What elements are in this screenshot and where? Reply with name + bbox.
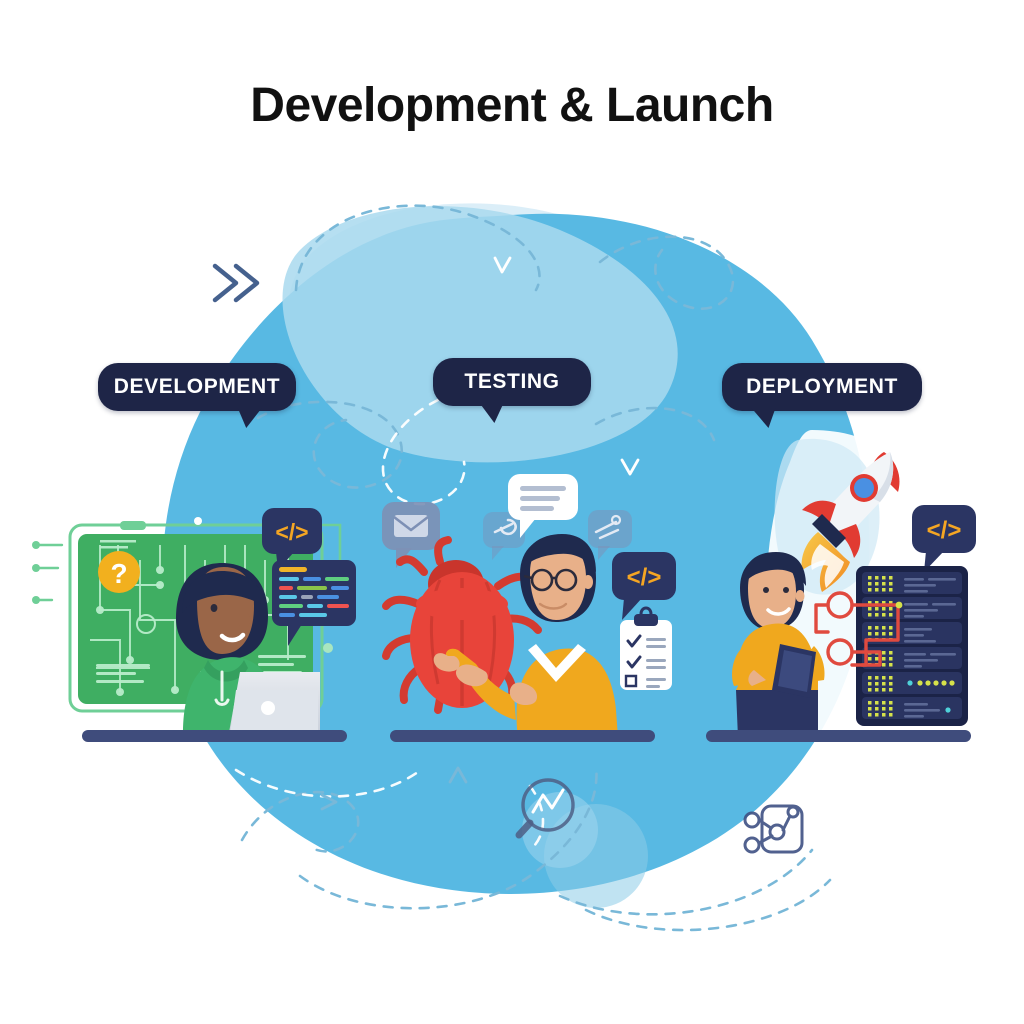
ground-bar — [390, 730, 655, 742]
tablet-icon — [772, 644, 816, 698]
bubble-tail-icon — [480, 403, 507, 423]
svg-text:</>: </> — [275, 519, 308, 545]
server-rack-icon — [856, 566, 968, 726]
svg-text:?: ? — [110, 558, 127, 589]
infographic-illustration: ? — [0, 0, 1024, 1024]
stage-label-deployment[interactable]: DEPLOYMENT — [722, 363, 922, 411]
stage-label-development[interactable]: DEVELOPMENT — [98, 363, 296, 411]
stage-label-testing-text: TESTING — [464, 370, 559, 394]
clipboard-checklist-icon — [620, 608, 672, 690]
stage-label-testing[interactable]: TESTING — [433, 358, 591, 406]
network-graph-icon — [745, 806, 802, 852]
bubble-tail-icon — [752, 408, 781, 428]
ground-bars — [82, 730, 971, 742]
svg-text:</>: </> — [927, 517, 962, 544]
bubble-tail-icon — [234, 408, 262, 428]
blob-dot-mid — [522, 792, 598, 868]
developer-at-laptop-scene: ? — [32, 508, 356, 740]
cable-endpoint-led — [896, 602, 903, 609]
page-title: Development & Launch — [0, 78, 1024, 133]
illustration-canvas: ? — [0, 0, 1024, 1024]
svg-text:</>: </> — [627, 564, 662, 591]
question-badge-icon: ? — [98, 551, 140, 593]
stage-label-development-text: DEVELOPMENT — [114, 375, 280, 399]
stage-label-deployment-text: DEPLOYMENT — [746, 375, 898, 399]
ground-bar — [82, 730, 347, 742]
ground-bar — [706, 730, 971, 742]
double-chevron-icon — [215, 266, 257, 300]
